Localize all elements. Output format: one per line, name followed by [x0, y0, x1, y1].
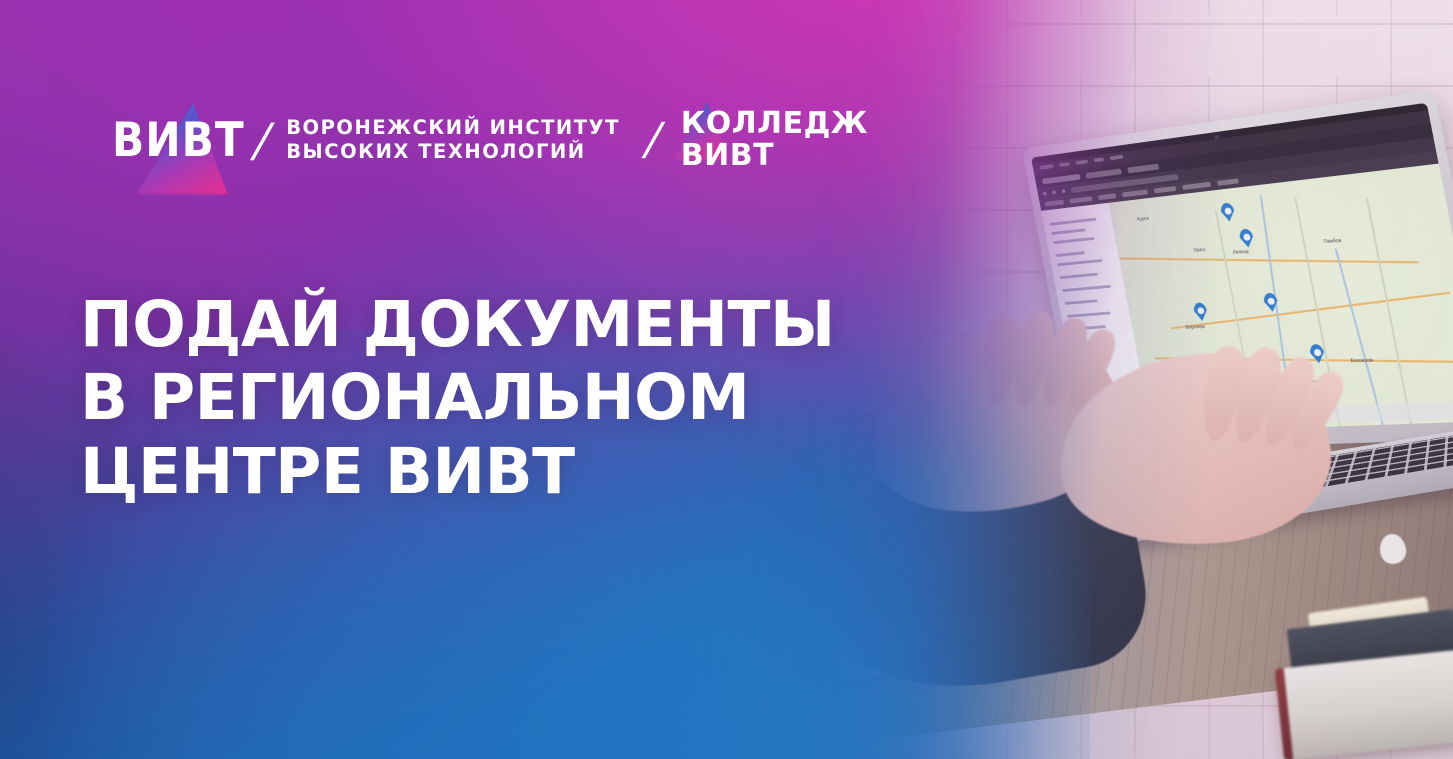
headline-line-2: В РЕГИОНАЛЬНОМ [80, 361, 835, 434]
college-logo[interactable]: КОЛЛЕДЖ ВИВТ [681, 108, 868, 173]
logo-slash-divider: / [249, 117, 276, 163]
institute-name: ВОРОНЕЖСКИЙ ИНСТИТУТ ВЫСОКИХ ТЕХНОЛОГИЙ [286, 116, 620, 164]
section-slash-divider: / [640, 118, 666, 162]
banner-content: ВИВТ / ВОРОНЕЖСКИЙ ИНСТИТУТ ВЫСОКИХ ТЕХН… [0, 0, 1453, 759]
promo-banner: Курск Орёл Липецк Тамбов Воронеж Старый … [0, 0, 1453, 759]
vivt-logo-text: ВИВТ [112, 117, 245, 164]
headline-line-1: ПОДАЙ ДОКУМЕНТЫ [80, 288, 835, 361]
vivt-logo[interactable]: ВИВТ / [112, 117, 286, 164]
college-label-line1: КОЛЛЕДЖ [681, 108, 868, 140]
college-label-line2: ВИВТ [681, 140, 868, 172]
headline-line-3: ЦЕНТРЕ ВИВТ [80, 435, 835, 508]
logo-bar[interactable]: ВИВТ / ВОРОНЕЖСКИЙ ИНСТИТУТ ВЫСОКИХ ТЕХН… [112, 108, 868, 173]
page-title: ПОДАЙ ДОКУМЕНТЫ В РЕГИОНАЛЬНОМ ЦЕНТРЕ ВИ… [80, 288, 835, 508]
